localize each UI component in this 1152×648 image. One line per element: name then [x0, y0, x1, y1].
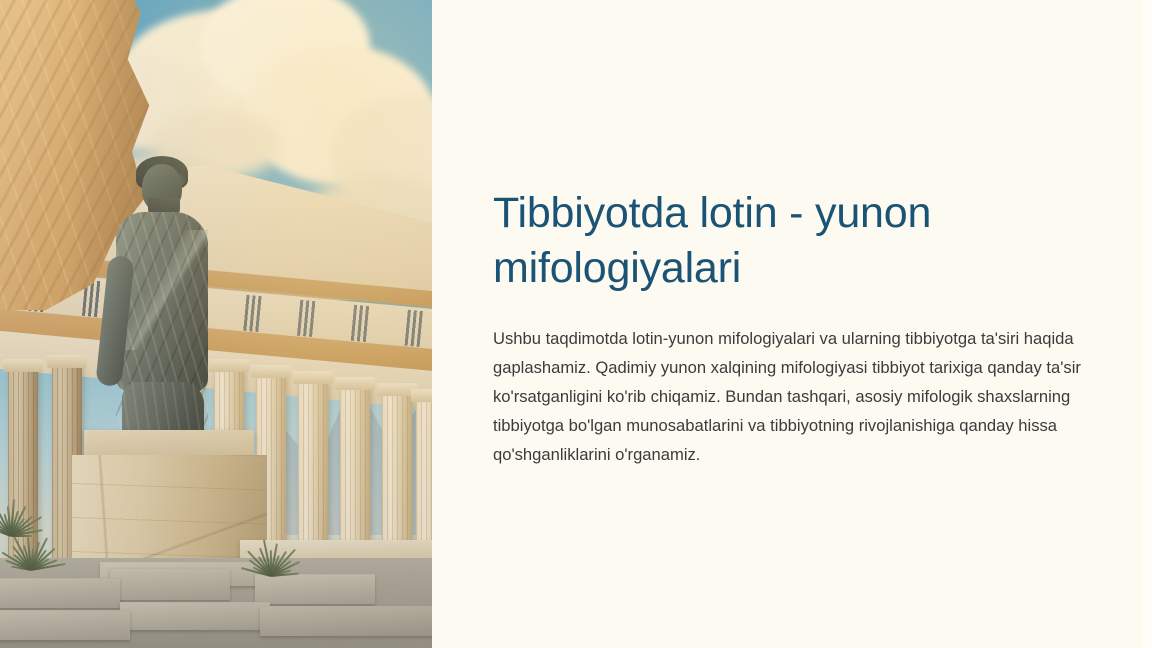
slide-content: Tibbiyotda lotin - yunon mifologiyalari …: [432, 0, 1152, 648]
slide: Tibbiyotda lotin - yunon mifologiyalari …: [0, 0, 1152, 648]
stone-block: [120, 602, 270, 630]
slide-hero-image: [0, 0, 432, 648]
slide-body-text: Ushbu taqdimotda lotin-yunon mifologiyal…: [493, 324, 1085, 469]
stone-block: [0, 578, 120, 608]
stone-block: [260, 606, 432, 636]
page-title: Tibbiyotda lotin - yunon mifologiyalari: [493, 186, 1053, 296]
stone-block: [255, 574, 375, 604]
stone-block: [0, 610, 130, 640]
pedestal-cap: [84, 430, 254, 458]
right-edge-strip: [1143, 0, 1152, 648]
stone-block: [110, 568, 230, 600]
